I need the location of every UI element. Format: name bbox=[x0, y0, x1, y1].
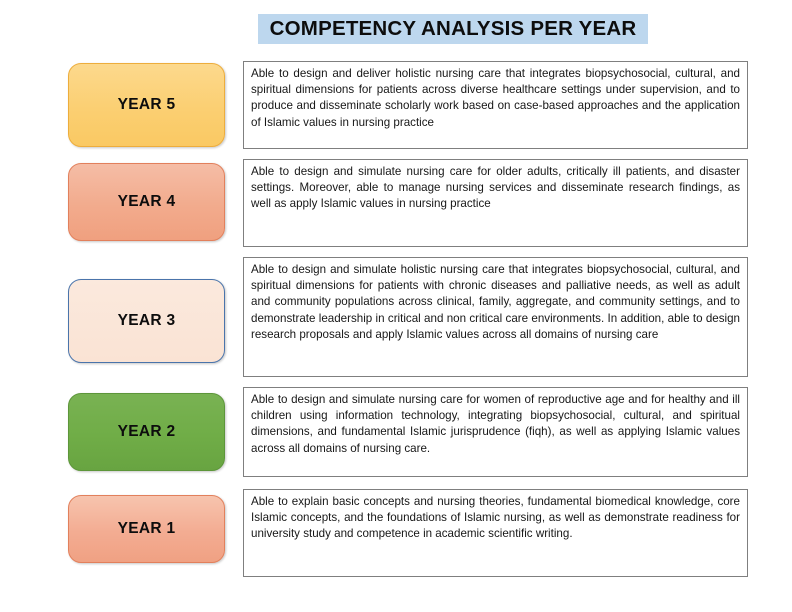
description-box-year-2: Able to design and simulate nursing care… bbox=[243, 387, 748, 477]
year-box-year-4[interactable]: YEAR 4 bbox=[68, 163, 225, 241]
description-text-year-3: Able to design and simulate holistic nur… bbox=[251, 262, 740, 343]
description-text-year-1: Able to explain basic concepts and nursi… bbox=[251, 494, 740, 543]
year-box-label-year-3: YEAR 3 bbox=[118, 312, 176, 330]
year-box-year-5[interactable]: YEAR 5 bbox=[68, 63, 225, 147]
description-text-year-5: Able to design and deliver holistic nurs… bbox=[251, 66, 740, 131]
year-box-label-year-5: YEAR 5 bbox=[118, 96, 176, 114]
description-text-year-2: Able to design and simulate nursing care… bbox=[251, 392, 740, 457]
year-box-year-2[interactable]: YEAR 2 bbox=[68, 393, 225, 471]
description-box-year-3: Able to design and simulate holistic nur… bbox=[243, 257, 748, 377]
year-box-label-year-2: YEAR 2 bbox=[118, 423, 176, 441]
description-box-year-1: Able to explain basic concepts and nursi… bbox=[243, 489, 748, 577]
description-text-year-4: Able to design and simulate nursing care… bbox=[251, 164, 740, 213]
year-box-year-1[interactable]: YEAR 1 bbox=[68, 495, 225, 563]
description-box-year-4: Able to design and simulate nursing care… bbox=[243, 159, 748, 247]
page-title: COMPETENCY ANALYSIS PER YEAR bbox=[270, 17, 637, 41]
page-title-band: COMPETENCY ANALYSIS PER YEAR bbox=[258, 14, 648, 44]
year-box-label-year-4: YEAR 4 bbox=[118, 193, 176, 211]
year-box-label-year-1: YEAR 1 bbox=[118, 520, 176, 538]
year-box-year-3[interactable]: YEAR 3 bbox=[68, 279, 225, 363]
description-box-year-5: Able to design and deliver holistic nurs… bbox=[243, 61, 748, 149]
competency-analysis-diagram: COMPETENCY ANALYSIS PER YEAR YEAR 5 Able… bbox=[0, 0, 792, 612]
